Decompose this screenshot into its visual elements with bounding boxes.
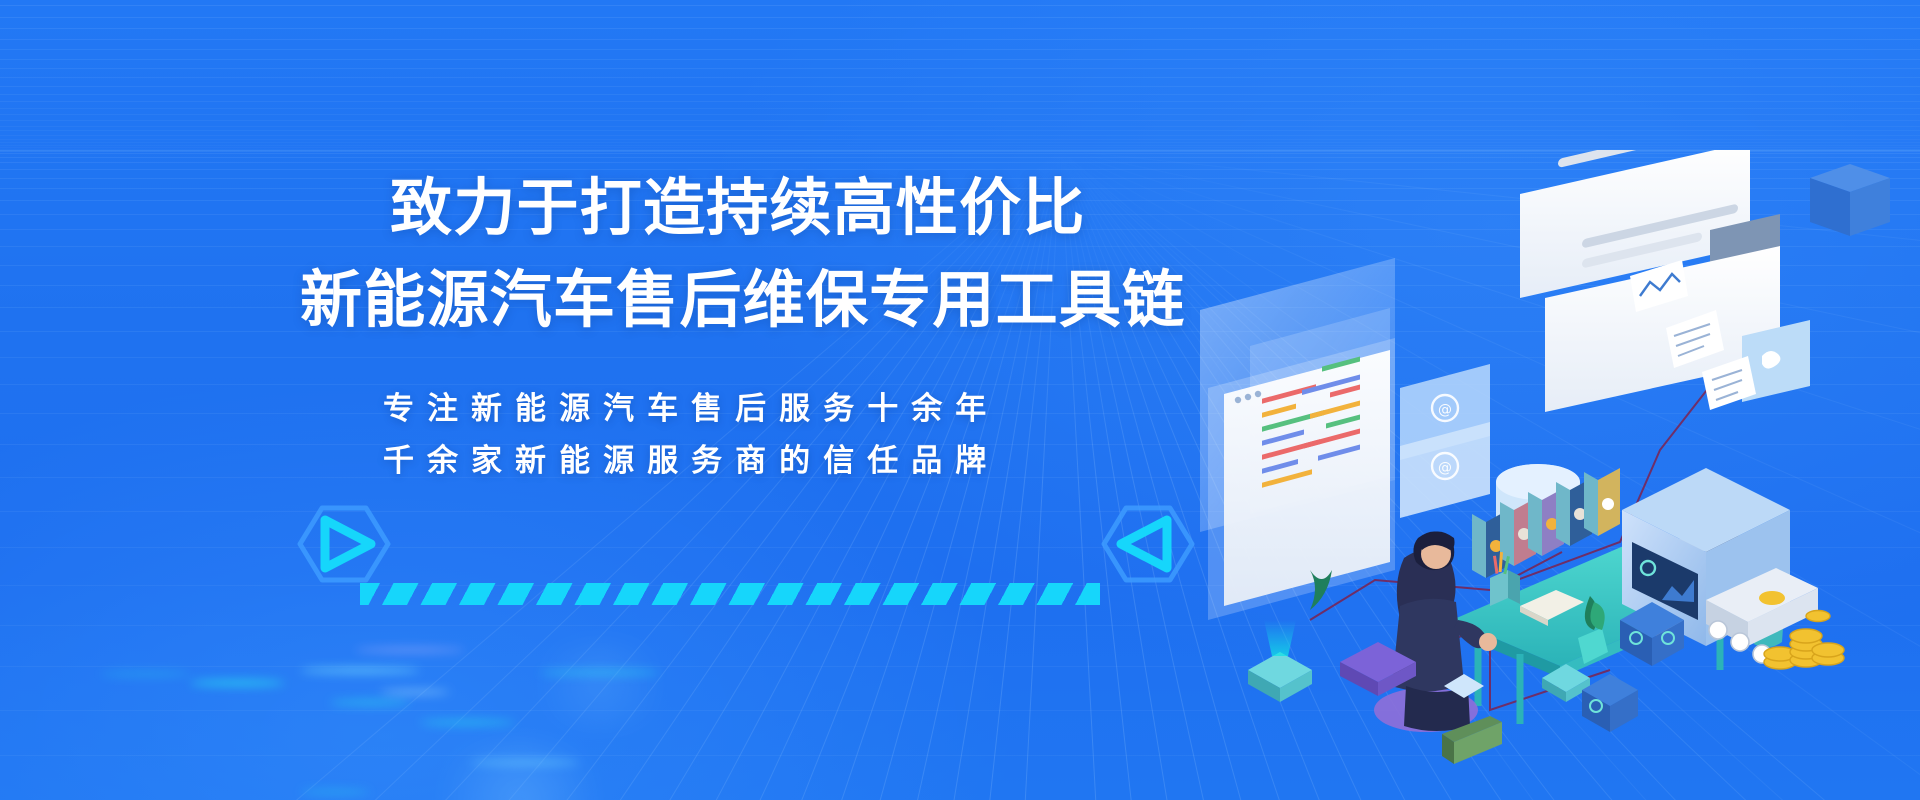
play-arrow-left-hexagon-icon xyxy=(1096,492,1200,596)
subtitle-line-2: 千余家新能源服务商的信任品牌 xyxy=(383,436,999,486)
isometric-office-teamwork-illustration: @ @ xyxy=(1190,150,1920,770)
headline-line-2: 新能源汽车售后维保专用工具链 xyxy=(300,264,1185,336)
banner-stage: 致力于打造持续高性价比 新能源汽车售后维保专用工具链 专注新能源汽车售后服务十余… xyxy=(0,0,1920,800)
svg-text:@: @ xyxy=(1438,402,1452,418)
play-arrow-right-hexagon-icon xyxy=(292,492,396,596)
diagonal-stripe-bar xyxy=(360,583,1100,605)
subtitle-line-1: 专注新能源汽车售后服务十余年 xyxy=(383,384,999,434)
copy-block: 致力于打造持续高性价比 新能源汽车售后维保专用工具链 专注新能源汽车售后服务十余… xyxy=(0,0,1200,800)
svg-text:@: @ xyxy=(1438,460,1452,476)
headline-line-1: 致力于打造持续高性价比 xyxy=(390,172,1086,244)
